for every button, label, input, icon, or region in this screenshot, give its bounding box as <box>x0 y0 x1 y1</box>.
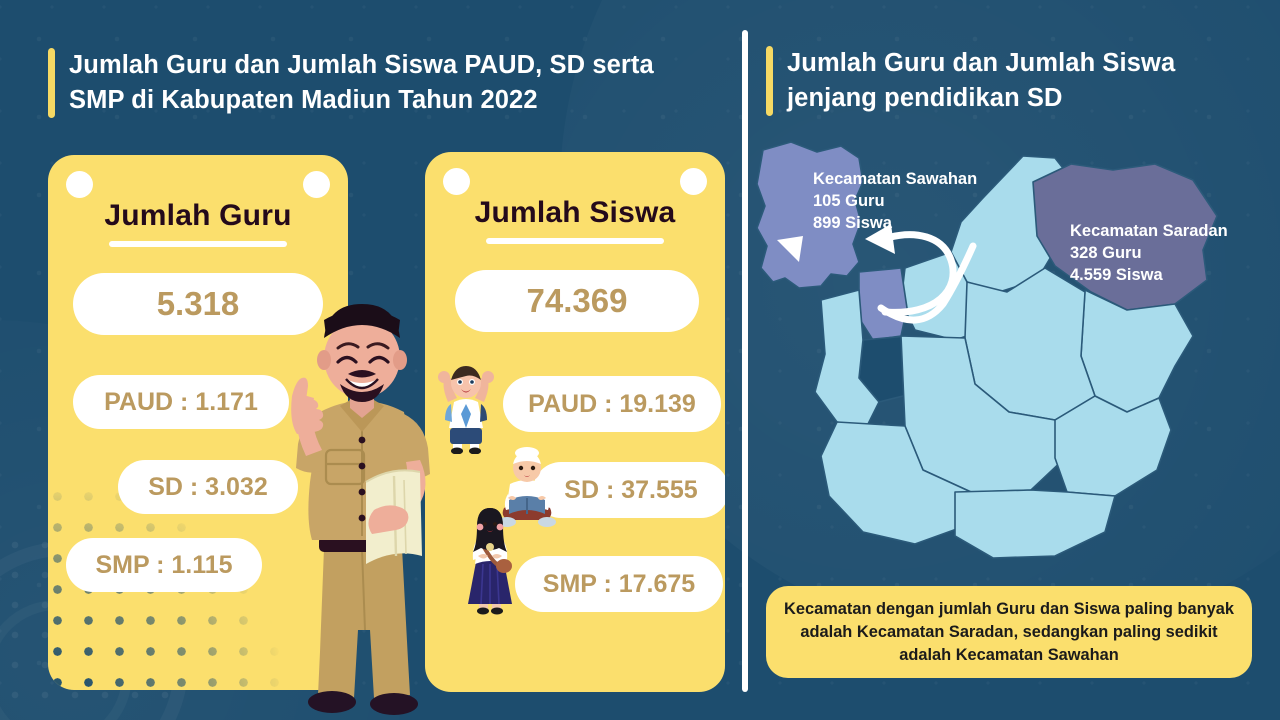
map-label-sawahan-students: 899 Siswa <box>813 212 977 234</box>
map-region-south <box>955 490 1115 558</box>
title-accent-bar-left <box>48 48 55 118</box>
right-panel-title: Jumlah Guru dan Jumlah Siswa jenjang pen… <box>766 46 1236 116</box>
card-punch-hole-right <box>303 171 330 198</box>
vertical-divider <box>742 30 748 692</box>
map-region-east <box>1081 290 1193 412</box>
card-punch-hole-left <box>443 168 470 195</box>
map-label-sawahan-teachers: 105 Guru <box>813 190 977 212</box>
infographic-canvas: Jumlah Guru dan Jumlah Siswa PAUD, SD se… <box>0 0 1280 720</box>
card-title-guru: Jumlah Guru <box>48 199 348 233</box>
student-boy-cheering-illustration <box>432 358 500 454</box>
card-row-guru-paud: PAUD : 1.171 <box>73 375 289 429</box>
map-label-saradan-district: Kecamatan Saradan <box>1070 220 1228 242</box>
map-label-sawahan-district: Kecamatan Sawahan <box>813 168 977 190</box>
title-accent-bar-right <box>766 46 773 116</box>
map-label-saradan-teachers: 328 Guru <box>1070 242 1228 264</box>
card-title-siswa: Jumlah Siswa <box>425 196 725 230</box>
card-punch-hole-right <box>680 168 707 195</box>
card-title-underline <box>109 241 287 247</box>
card-row-siswa-paud: PAUD : 19.139 <box>503 376 721 432</box>
map-label-saradan: Kecamatan Saradan 328 Guru 4.559 Siswa <box>1070 220 1228 286</box>
right-panel-title-text: Jumlah Guru dan Jumlah Siswa jenjang pen… <box>787 46 1236 116</box>
card-punch-hole-left <box>66 171 93 198</box>
left-panel-title: Jumlah Guru dan Jumlah Siswa PAUD, SD se… <box>48 48 708 118</box>
card-title-underline <box>486 238 664 244</box>
map-region-southeast <box>1055 396 1171 496</box>
card-total-siswa: 74.369 <box>455 270 699 332</box>
map-label-sawahan: Kecamatan Sawahan 105 Guru 899 Siswa <box>813 168 977 234</box>
card-row-siswa-smp: SMP : 17.675 <box>515 556 723 612</box>
map-kabupaten-madiun: Kecamatan Sawahan 105 Guru 899 Siswa Kec… <box>755 140 1255 570</box>
map-caption-box: Kecamatan dengan jumlah Guru dan Siswa p… <box>766 586 1252 678</box>
student-girl-illustration <box>458 506 522 616</box>
left-panel-title-text: Jumlah Guru dan Jumlah Siswa PAUD, SD se… <box>69 48 708 118</box>
map-region-sawahan-inset <box>859 268 907 340</box>
map-label-saradan-students: 4.559 Siswa <box>1070 264 1228 286</box>
card-row-guru-smp: SMP : 1.115 <box>66 538 262 592</box>
